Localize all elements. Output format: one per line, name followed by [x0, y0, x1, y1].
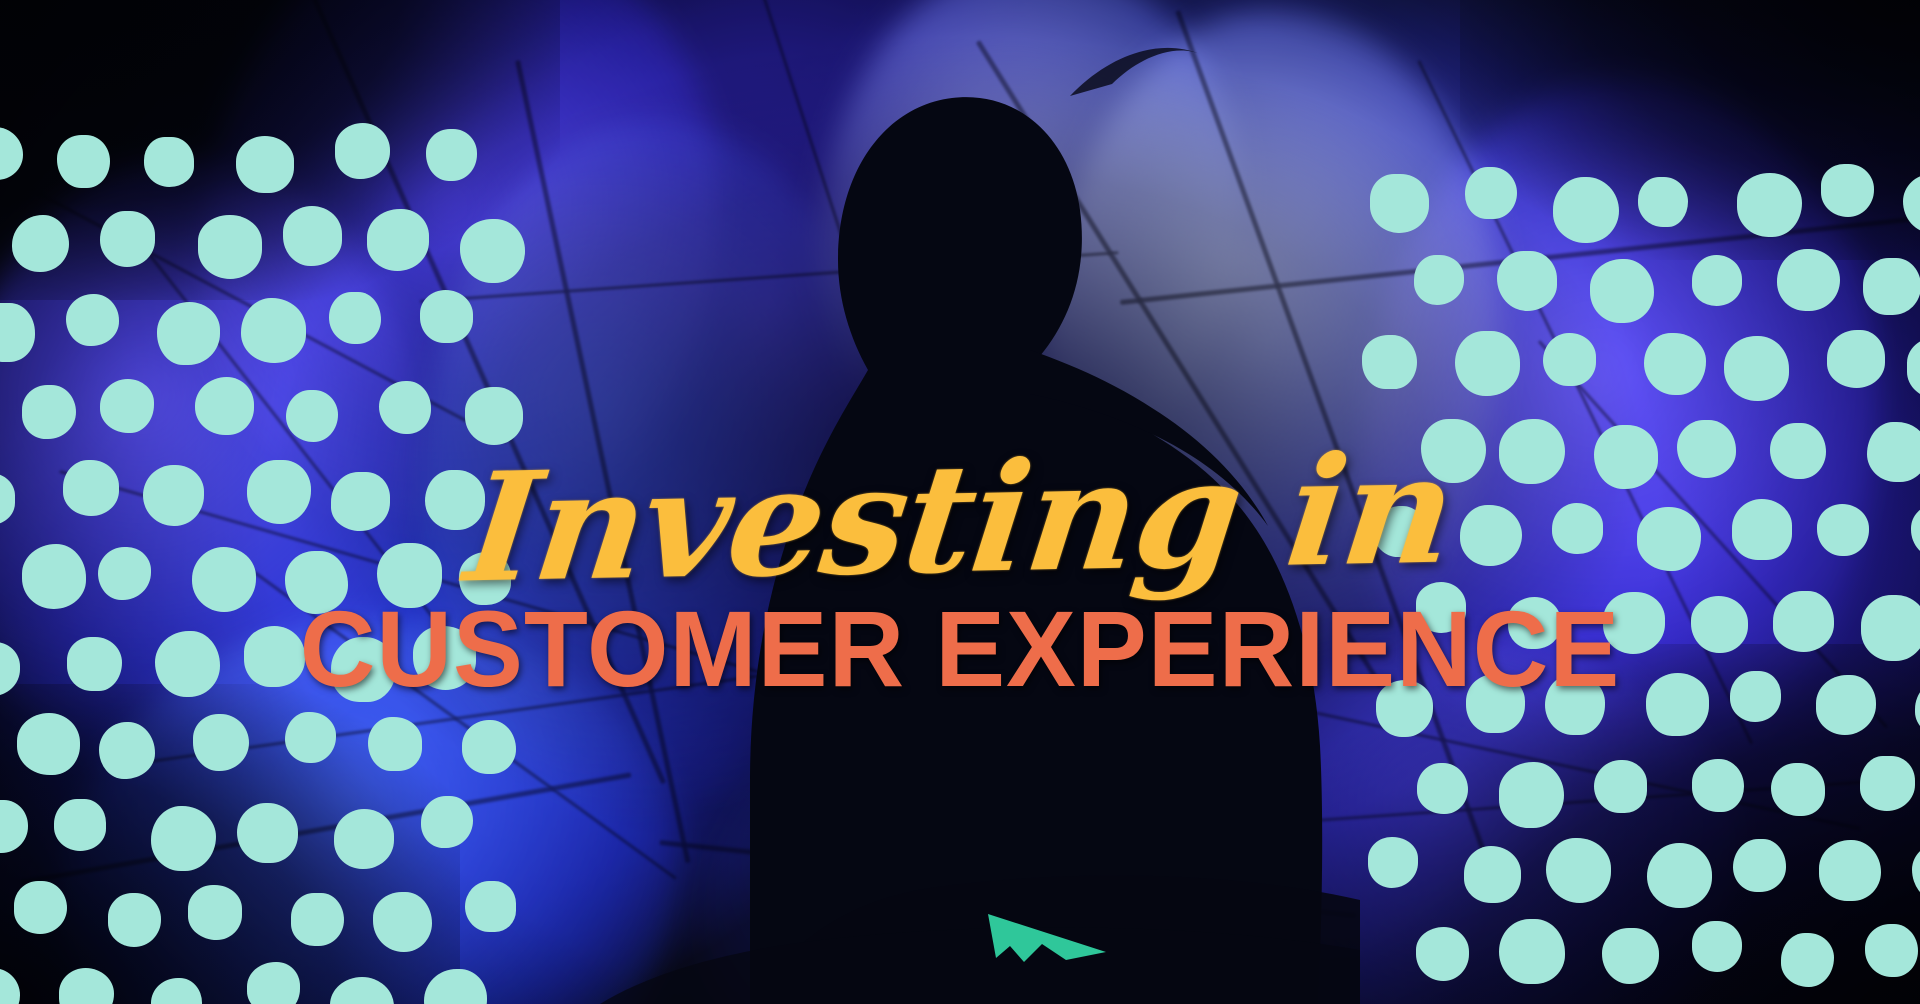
mint-dot [12, 215, 69, 272]
mint-dot [1553, 177, 1619, 243]
mint-dot [0, 968, 20, 1004]
mint-dot [1863, 258, 1920, 315]
mint-dot [1644, 333, 1706, 395]
green-triangle-glow [980, 900, 1120, 970]
mint-dot [1508, 597, 1560, 649]
mint-dot [330, 977, 394, 1004]
mint-dot [0, 800, 28, 853]
mint-dot [424, 969, 487, 1004]
mint-dot [1465, 167, 1517, 219]
mint-dot [1677, 420, 1736, 479]
mint-dot [17, 713, 79, 775]
mint-dot [1692, 759, 1745, 812]
mint-dot [1370, 174, 1429, 233]
mint-dot [108, 893, 162, 947]
mint-dot [1692, 255, 1743, 306]
mint-dot [1912, 842, 1920, 901]
mint-dot [1421, 419, 1485, 483]
mint-dot [100, 379, 154, 433]
mint-dot [1732, 499, 1793, 560]
mint-dot [1466, 674, 1525, 733]
mint-dot [1730, 671, 1781, 722]
mint-dot [331, 637, 396, 702]
mint-dot [144, 137, 194, 187]
mint-dot [379, 381, 432, 434]
mint-dot [241, 298, 306, 363]
mint-dot [1374, 506, 1426, 558]
mint-dot [1417, 763, 1468, 814]
mint-dot [193, 714, 250, 771]
mint-dot [1911, 505, 1920, 559]
mint-dot [67, 637, 122, 692]
mint-dot [285, 712, 336, 763]
mint-dot [421, 796, 473, 848]
mint-dot [329, 292, 381, 344]
mint-dot [1816, 675, 1876, 735]
mint-dot [0, 473, 15, 525]
mint-dot [57, 135, 110, 188]
mint-dot [54, 799, 106, 851]
mint-dot [1827, 330, 1884, 387]
mint-dot [1733, 839, 1787, 893]
mint-dot [244, 626, 305, 687]
mint-dot [1777, 249, 1839, 311]
mint-dot [291, 893, 344, 946]
mint-dot [1817, 504, 1869, 556]
mint-dot [22, 385, 76, 439]
mint-dot [1416, 927, 1470, 981]
mint-dot [331, 472, 390, 531]
mint-dot [1414, 255, 1464, 305]
mint-dot [0, 127, 23, 180]
mint-dot [66, 294, 118, 346]
mint-dot [247, 460, 311, 524]
mint-dot [1460, 505, 1522, 567]
mint-dot [1368, 837, 1418, 887]
mint-dot [335, 123, 390, 178]
mint-dot [285, 551, 348, 614]
mint-dot [192, 547, 257, 612]
mint-dot [373, 892, 432, 951]
mint-dot [1376, 680, 1433, 737]
mint-dot [1416, 582, 1467, 633]
mint-dot [1545, 675, 1605, 735]
mint-dot [367, 209, 429, 271]
mint-dot [1499, 919, 1565, 985]
mint-dot [198, 215, 262, 279]
seated-person-silhouette [600, 20, 1360, 1004]
mint-dot [1362, 335, 1417, 390]
mint-dot [1464, 846, 1521, 903]
mint-dot [1590, 259, 1654, 323]
mint-dot [1781, 933, 1834, 986]
mint-dot [1638, 177, 1688, 227]
mint-dot [1646, 673, 1710, 737]
mint-dot [143, 465, 204, 526]
mint-dot [1543, 333, 1596, 386]
mint-dot [1692, 921, 1742, 971]
mint-dot [1602, 928, 1659, 985]
mint-dot [1546, 838, 1611, 903]
title-card-slide: Investing in CUSTOMER EXPERIENCE [0, 0, 1920, 1004]
mint-dot [0, 642, 20, 696]
mint-dot [1455, 331, 1520, 396]
mint-dot [236, 136, 294, 194]
mint-dot [100, 211, 155, 266]
mint-dot [377, 543, 441, 607]
mint-polka-dot-cluster-right [1360, 0, 1920, 1004]
mint-dot [465, 881, 516, 932]
mint-dot [286, 390, 338, 442]
mint-dot [1867, 422, 1920, 483]
mint-dot [420, 290, 472, 342]
mint-dot [1821, 164, 1874, 217]
mint-dot [99, 722, 155, 778]
mint-dot [1499, 419, 1565, 485]
mint-dot [1594, 760, 1647, 813]
mint-dot [1637, 507, 1701, 571]
mint-dot [247, 962, 300, 1004]
mint-dot [1773, 591, 1834, 652]
mint-dot [14, 881, 66, 933]
mint-dot [283, 206, 342, 265]
mint-dot [59, 968, 114, 1004]
mint-dot [1603, 592, 1665, 654]
mint-dot [195, 377, 253, 435]
mint-dot [1865, 924, 1917, 976]
mint-dot [465, 387, 523, 445]
mint-dot [157, 302, 220, 365]
mint-dot [1647, 843, 1712, 908]
mint-dot [1594, 425, 1658, 489]
mint-dot [1915, 679, 1920, 738]
mint-polka-dot-cluster-left [0, 0, 520, 1004]
mint-dot [459, 552, 512, 605]
mint-dot [425, 470, 485, 530]
mint-dot [334, 809, 394, 869]
mint-dot [1903, 174, 1920, 233]
mint-dot [98, 547, 151, 600]
mint-dot [1737, 173, 1801, 237]
mint-dot [1819, 840, 1881, 902]
mint-dot [460, 219, 524, 283]
mint-dot [1907, 337, 1920, 399]
mint-dot [1770, 423, 1825, 478]
mint-dot [237, 803, 298, 864]
mint-dot [1724, 336, 1788, 400]
mint-dot [1552, 503, 1603, 554]
mint-dot [151, 978, 202, 1004]
mint-dot [1771, 763, 1825, 817]
mint-dot [462, 720, 516, 774]
mint-dot [188, 885, 243, 940]
mint-dot [1499, 762, 1564, 827]
mint-dot [368, 717, 422, 771]
mint-dot [426, 129, 477, 180]
mint-dot [1497, 251, 1556, 310]
mint-dot [22, 544, 87, 609]
mint-dot [1861, 595, 1920, 661]
mint-dot [413, 626, 476, 689]
mint-dot [1860, 756, 1915, 811]
mint-dot [0, 303, 35, 362]
mint-dot [155, 631, 220, 696]
mint-dot [63, 460, 119, 516]
mint-dot [1691, 596, 1748, 653]
mint-dot [151, 806, 216, 871]
